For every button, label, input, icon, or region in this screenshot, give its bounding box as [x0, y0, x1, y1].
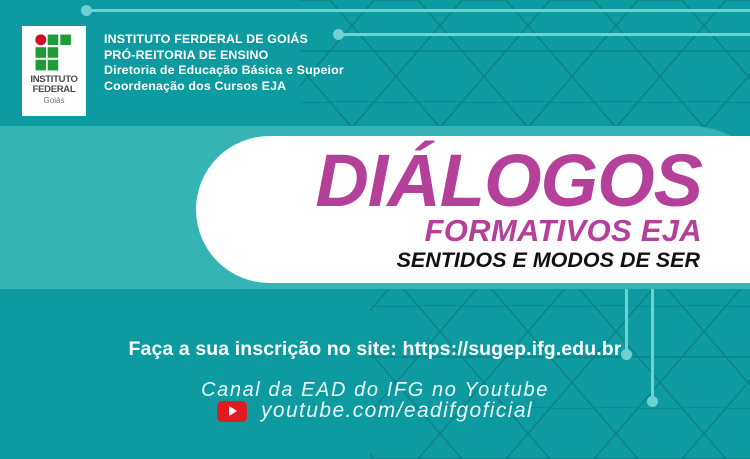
- connector-line-top-2: [338, 33, 750, 36]
- event-title-subtitle: FORMATIVOS EJA: [196, 214, 702, 248]
- youtube-row: youtube.com/eadifgoficial: [0, 399, 750, 423]
- ifg-logo: INSTITUTO FEDERAL Goiás: [22, 26, 86, 116]
- logo-word-federal: FEDERAL: [33, 84, 76, 95]
- registration-text[interactable]: Faça a sua inscrição no site: https://su…: [0, 338, 750, 361]
- institution-line-2: PRÓ-REITORIA DE ENSINO: [104, 48, 344, 64]
- connector-dot-top-1: [81, 5, 92, 16]
- logo-state-goias: Goiás: [44, 96, 65, 105]
- institution-line-3: Diretoria de Educação Básica e Supeior: [104, 63, 344, 79]
- youtube-url[interactable]: youtube.com/eadifgoficial: [261, 399, 533, 423]
- institution-line-4: Coordenação dos Cursos EJA: [104, 79, 344, 95]
- connector-line-top-1: [86, 9, 750, 12]
- institution-line-1: INSTITUTO FERDERAL DE GOIÁS: [104, 32, 344, 48]
- poster-canvas: INSTITUTO FEDERAL Goiás INSTITUTO FERDER…: [0, 0, 750, 459]
- event-title-block: DIÁLOGOS FORMATIVOS EJA SENTIDOS E MODOS…: [196, 136, 750, 288]
- ifg-logo-icon: [35, 34, 73, 72]
- event-title-main: DIÁLOGOS: [196, 144, 702, 218]
- event-title-tagline: SENTIDOS E MODOS DE SER: [196, 248, 702, 272]
- youtube-play-icon[interactable]: [217, 401, 247, 422]
- institution-name-block: INSTITUTO FERDERAL DE GOIÁS PRÓ-REITORIA…: [104, 26, 344, 94]
- header: INSTITUTO FEDERAL Goiás INSTITUTO FERDER…: [22, 26, 344, 116]
